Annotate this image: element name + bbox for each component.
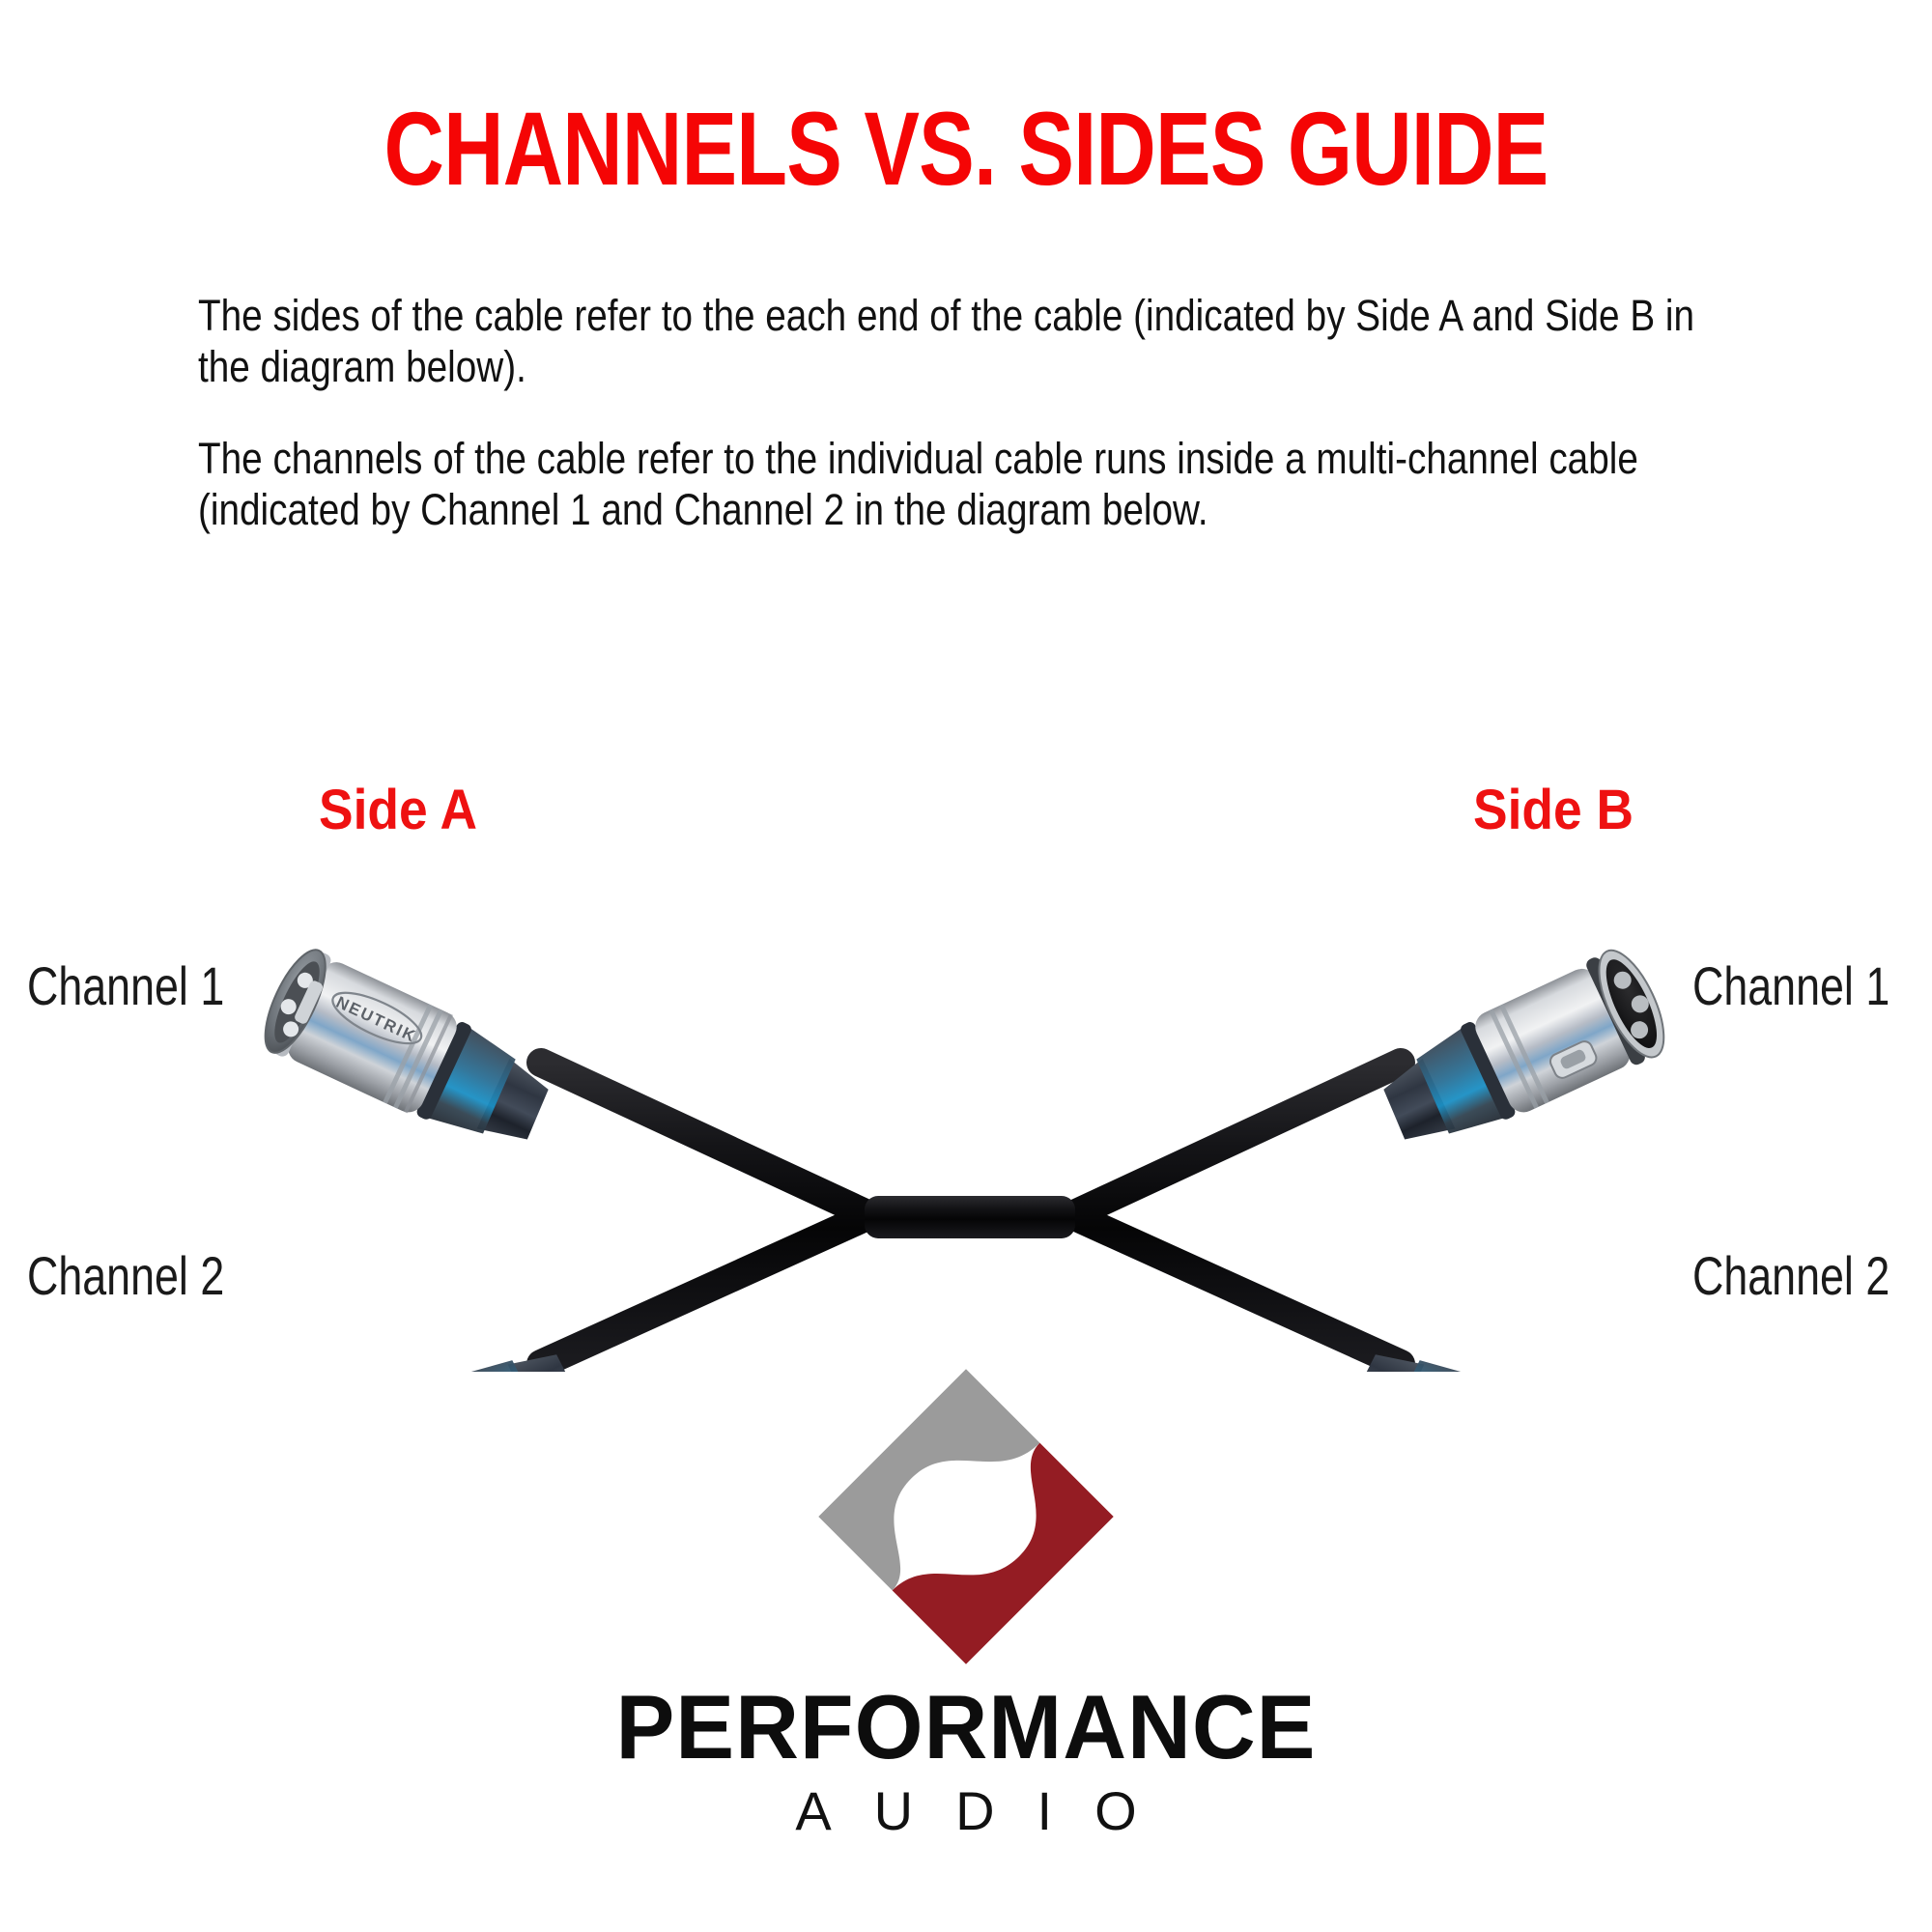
connector-side-a-channel-1: NEUTRIK bbox=[253, 942, 562, 1165]
connector-side-b-channel-1 bbox=[1369, 942, 1677, 1168]
brand-logo-block: PERFORMANCE AUDIO bbox=[0, 1357, 1932, 1838]
page-title: CHANNELS VS. SIDES GUIDE bbox=[193, 97, 1739, 201]
paragraph-channels: The channels of the cable refer to the i… bbox=[198, 433, 1701, 535]
performance-audio-diamond-icon bbox=[802, 1357, 1130, 1676]
cable-crossover-diagram: NEUTRIK bbox=[0, 869, 1932, 1372]
brand-name-performance: PERFORMANCE bbox=[29, 1682, 1903, 1773]
logo-red-shape bbox=[893, 1443, 1114, 1664]
side-b-label: Side B bbox=[1473, 778, 1634, 842]
side-a-label: Side A bbox=[319, 778, 477, 842]
paragraph-sides: The sides of the cable refer to the each… bbox=[198, 290, 1701, 392]
cable-bundle-center bbox=[865, 1196, 1075, 1238]
brand-name-audio: AUDIO bbox=[0, 1784, 1932, 1838]
guide-page: CHANNELS VS. SIDES GUIDE The sides of th… bbox=[0, 0, 1932, 1932]
logo-gray-shape bbox=[818, 1369, 1039, 1590]
intro-text-block: The sides of the cable refer to the each… bbox=[198, 290, 1705, 576]
